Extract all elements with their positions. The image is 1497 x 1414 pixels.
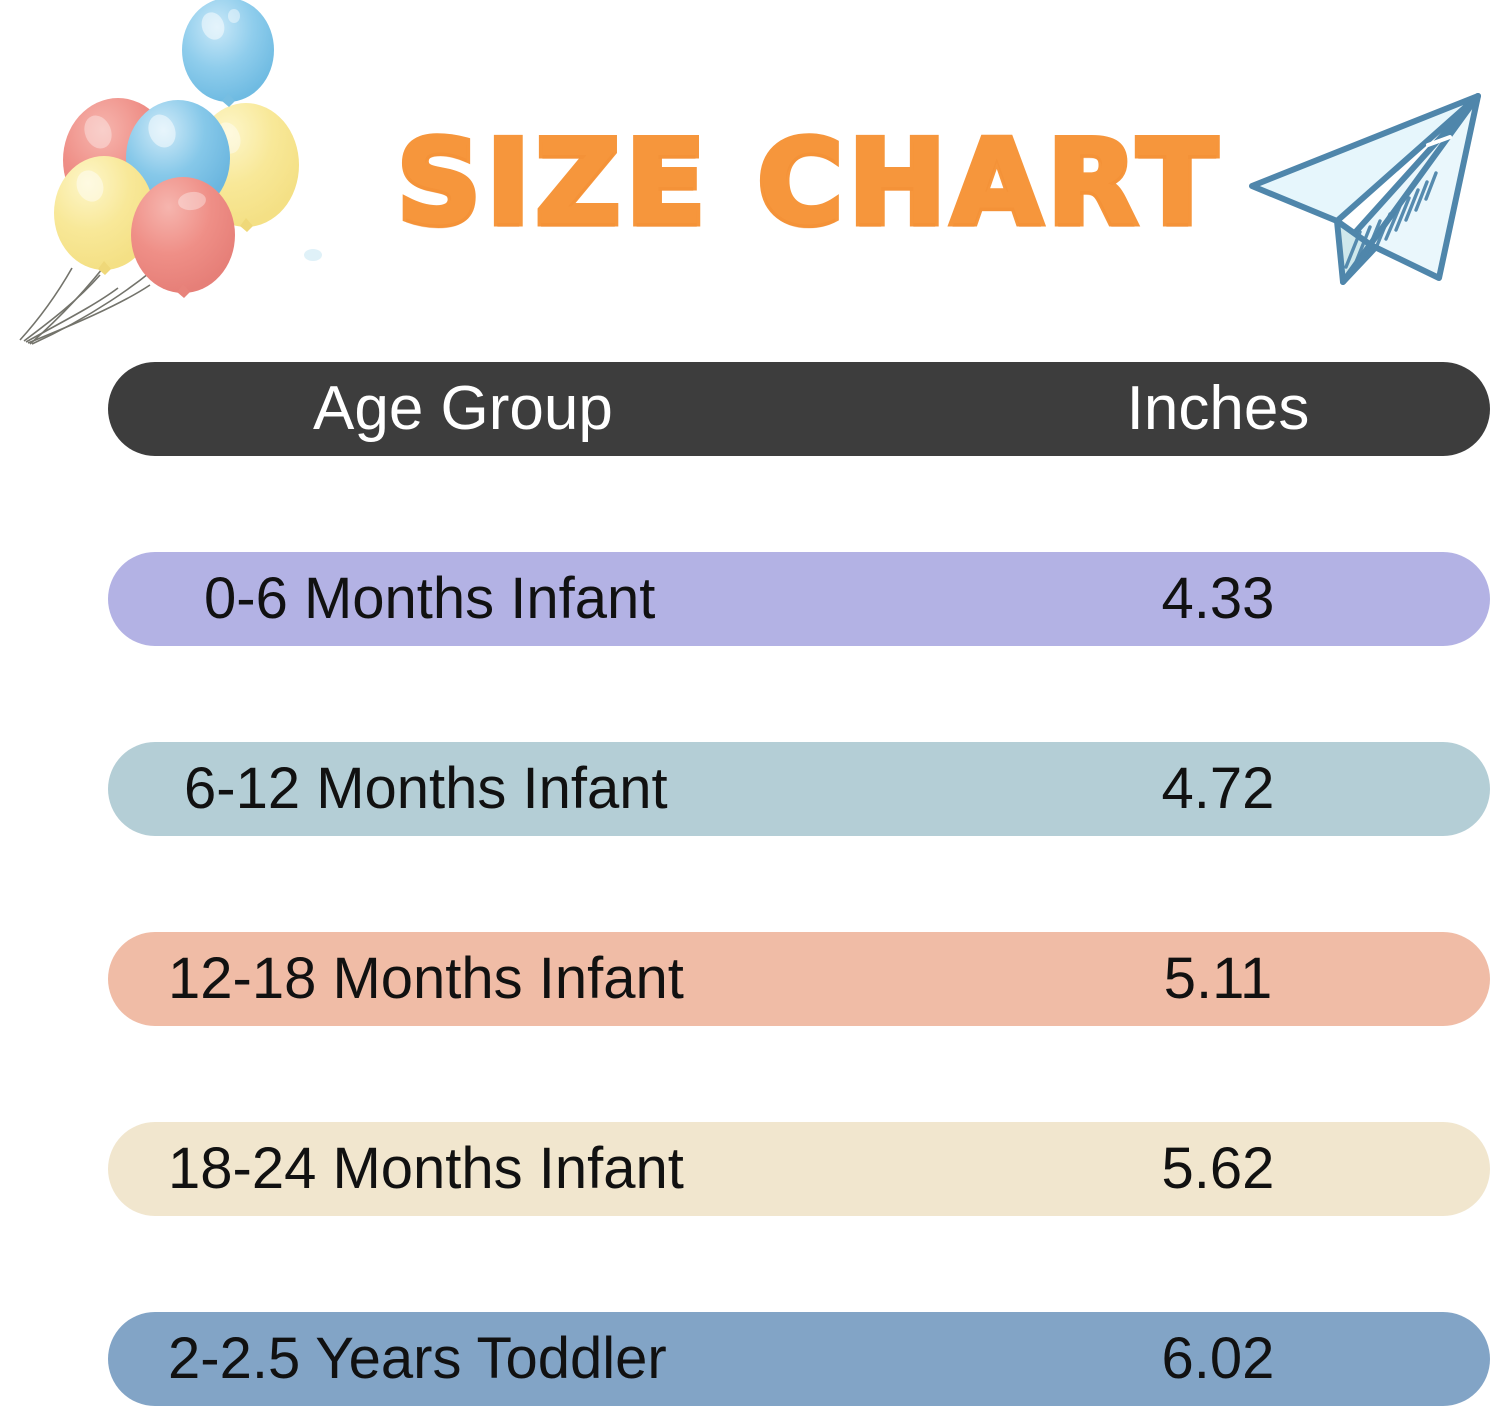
table-row: 18-24 Months Infant 5.62	[108, 1122, 1490, 1216]
column-header-age-group: Age Group	[313, 378, 1013, 440]
size-chart-table: Age Group Inches 0-6 Months Infant 4.33 …	[108, 362, 1490, 1406]
cell-age-group: 6-12 Months Infant	[184, 760, 1084, 818]
table-row: 6-12 Months Infant 4.72	[108, 742, 1490, 836]
size-chart-page: Age Group Inches 0-6 Months Infant 4.33 …	[0, 0, 1497, 1414]
cell-age-group: 0-6 Months Infant	[204, 570, 1104, 628]
balloon-coral-front	[131, 177, 235, 298]
page-title: SIZE CHART	[415, 118, 1205, 248]
paper-airplane-icon	[1242, 82, 1494, 294]
table-row: 2-2.5 Years Toddler 6.02	[108, 1312, 1490, 1406]
cell-age-group: 2-2.5 Years Toddler	[168, 1330, 1068, 1388]
column-header-inches: Inches	[1068, 378, 1368, 440]
balloon-blue-top	[182, 0, 274, 107]
cell-inches: 4.72	[1068, 760, 1368, 818]
balloon-cluster-icon	[0, 0, 340, 345]
table-row: 0-6 Months Infant 4.33	[108, 552, 1490, 646]
cell-inches: 5.11	[1068, 950, 1368, 1008]
cell-inches: 4.33	[1068, 570, 1368, 628]
table-row: 12-18 Months Infant 5.11	[108, 932, 1490, 1026]
cell-inches: 5.62	[1068, 1140, 1368, 1198]
cell-inches: 6.02	[1068, 1330, 1368, 1388]
cell-age-group: 18-24 Months Infant	[168, 1140, 1068, 1198]
table-header-row: Age Group Inches	[108, 362, 1490, 456]
cell-age-group: 12-18 Months Infant	[168, 950, 1068, 1008]
